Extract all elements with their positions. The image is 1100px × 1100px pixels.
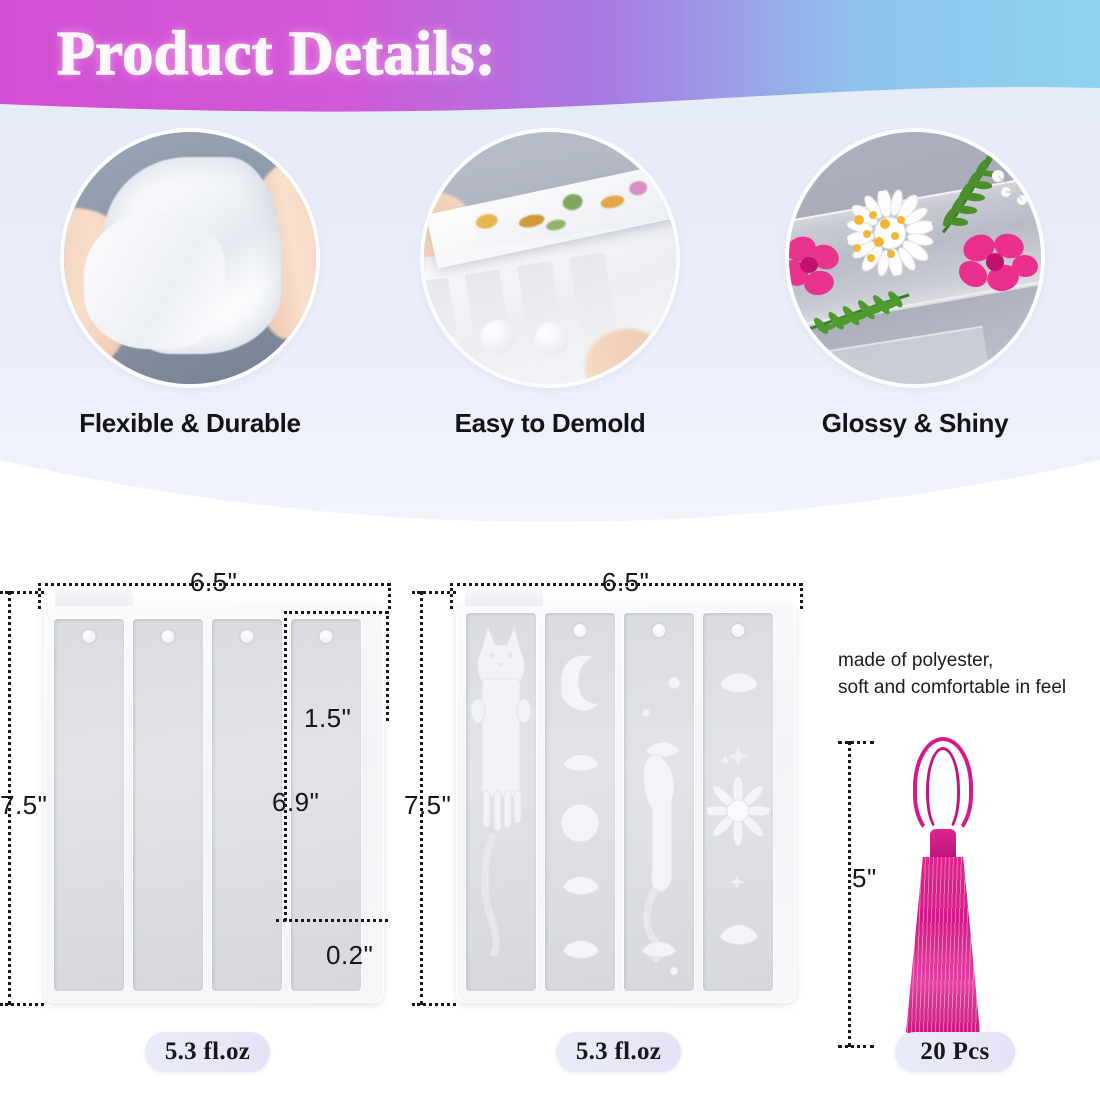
feature-flexible-durable: Flexible & Durable <box>40 132 340 439</box>
mold1-cavity-width-label: 1.5" <box>304 703 351 734</box>
cat-and-moon-bookmark-mold <box>456 603 796 1003</box>
mold1-width-tick-right <box>388 583 391 609</box>
silicone-sheet-fold <box>84 213 225 349</box>
mold1-cavity-height-label: 6.9" <box>272 787 319 818</box>
feature-image-glossy-shiny <box>789 132 1041 384</box>
feature-label: Glossy & Shiny <box>765 408 1065 439</box>
tassel-loop-inner <box>926 747 960 833</box>
features-row: Flexible & Durable <box>0 84 1100 544</box>
moon-sun-star-relief <box>707 651 769 985</box>
moon-phase-bookmark-cavity <box>545 613 615 991</box>
pink-pressed-flower <box>789 233 857 307</box>
glossy-pressed-flower-bookmark-photo <box>789 132 1041 384</box>
mold2-height-tick-bottom <box>412 1003 456 1006</box>
feature-glossy-shiny: Glossy & Shiny <box>765 132 1065 439</box>
mold1-cavity-width-tick-right <box>386 611 389 721</box>
dried-leaf <box>546 219 568 233</box>
tassel-height-label: 5" <box>852 863 877 894</box>
hole-peg <box>732 624 745 637</box>
header-banner: Product Details: <box>0 0 1100 140</box>
cat-bookmark-cavity <box>466 613 536 991</box>
bookmark-cavity <box>133 619 203 991</box>
tassel-height-guide <box>848 741 851 1047</box>
mold2-width-tick-left <box>450 583 453 609</box>
hole-peg <box>241 630 254 643</box>
page-title: Product Details: <box>57 19 496 90</box>
polyester-tassel <box>888 737 998 1049</box>
product-dimensions-section: 6.5" 7.5" 1.5" 6.9" 0.2" <box>0 545 1100 1100</box>
mold1-width-tick-left <box>38 583 41 609</box>
pink-pressed-flower <box>955 228 1041 306</box>
tassel-height-tick-bottom <box>838 1045 874 1048</box>
badge-mold1-volume: 5.3 fl.oz <box>145 1032 270 1072</box>
mold1-depth-label: 0.2" <box>326 940 373 971</box>
mold1-height-tick-top <box>0 591 44 594</box>
mold1-height-label: 7.5" <box>0 790 47 821</box>
mold1-cavity-width-tick-left <box>284 611 287 921</box>
hole-peg <box>574 624 587 637</box>
mold2-height-tick-top <box>412 591 456 594</box>
mold-pour-tab <box>54 589 134 607</box>
hole-peg <box>320 630 333 643</box>
hole-peg <box>83 630 96 643</box>
hole-peg <box>162 630 175 643</box>
hand-demolding-resin-bookmark-photo <box>424 132 676 384</box>
cat-shape-relief <box>470 615 532 985</box>
mold1-height-tick-bottom <box>0 1003 44 1006</box>
standing-cat-relief <box>628 639 690 987</box>
badge-mold2-volume: 5.3 fl.oz <box>556 1032 681 1072</box>
hands-flexing-silicone-mold-photo <box>64 132 316 384</box>
feature-image-flexible-durable <box>64 132 316 384</box>
dried-petal <box>599 194 625 211</box>
tassel-material-note: made of polyester, soft and comfortable … <box>838 648 1066 701</box>
feature-label: Easy to Demold <box>400 408 700 439</box>
feature-image-easy-to-demold <box>424 132 676 384</box>
hole-peg <box>653 624 666 637</box>
dried-leaf <box>561 193 584 213</box>
mold1-width-label: 6.5" <box>190 567 237 598</box>
standing-cat-bookmark-cavity <box>624 613 694 991</box>
mold2-height-label: 7.5" <box>404 790 451 821</box>
badge-tassel-count: 20 Pcs <box>895 1032 1015 1072</box>
mold2-width-label: 6.5" <box>602 567 649 598</box>
moon-sun-star-bookmark-cavity <box>703 613 773 991</box>
moon-phases-relief <box>549 647 611 987</box>
white-babysbreath-flowers <box>986 162 1041 220</box>
mold1-cavity-height-guide <box>276 919 388 922</box>
yellow-filler-flowers <box>849 208 915 268</box>
mold1-cavity-width-guide <box>284 611 388 614</box>
tassel-height-tick-top <box>838 741 874 744</box>
feature-label: Flexible & Durable <box>40 408 340 439</box>
tassel-skirt <box>901 857 985 1039</box>
mold-pour-tab <box>464 589 544 607</box>
dried-petal <box>518 213 546 230</box>
dried-petal <box>628 180 649 197</box>
bookmark-cavity <box>54 619 124 991</box>
infographic-canvas: Flexible & Durable <box>0 0 1100 1100</box>
mold2-width-tick-right <box>800 583 803 609</box>
feature-easy-to-demold: Easy to Demold <box>400 132 700 439</box>
dried-petal <box>475 213 499 231</box>
features-panel: Flexible & Durable <box>0 84 1100 544</box>
